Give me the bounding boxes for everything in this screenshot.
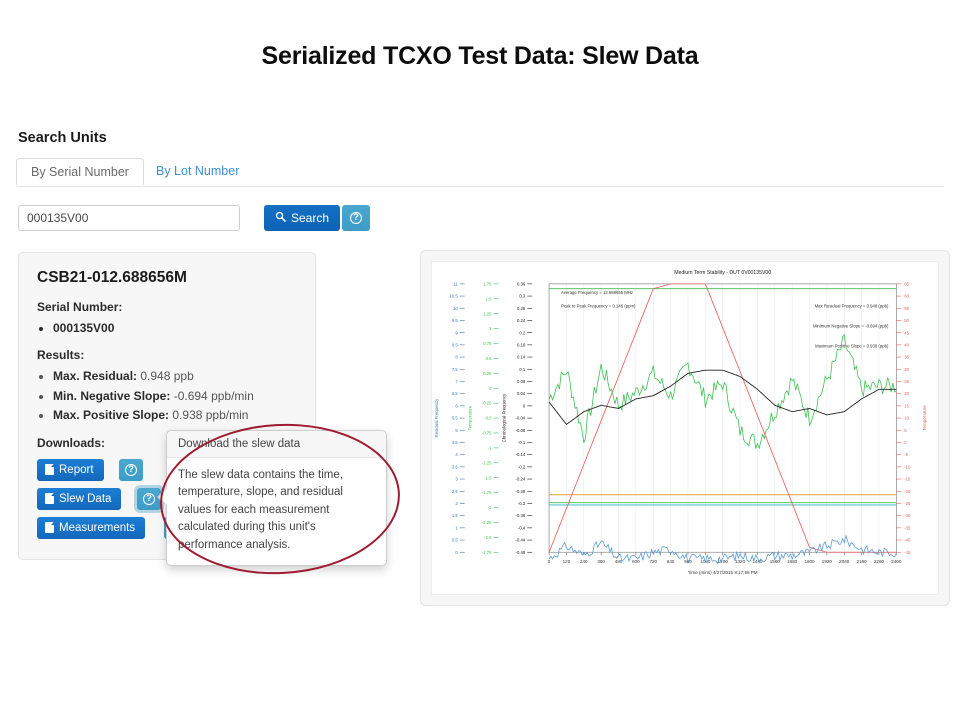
download-slew-data-label: Slew Data [59,493,111,505]
axis-tick-label: 0.28 [517,306,526,311]
axis-tick-label: -2.75 [482,550,492,555]
axis-tick-label: 8 [455,355,458,360]
axis-tick-label: 0.24 [517,318,526,323]
max-positive-slope-value: 0.938 ppb/min [172,408,248,422]
x-tick-label: 240 [580,559,588,564]
download-measurements-button[interactable]: Measurements [37,517,145,539]
result-card-title: CSB21-012.688656M [37,269,297,287]
axis-tick-label: 1 [489,326,492,331]
x-tick-label: 840 [667,559,675,564]
medium-term-stability-chart: Medium Term Stability - DUT 0V00135V0001… [432,262,938,594]
axis-tick-label: 0.3 [519,294,526,299]
chart-title: Medium Term Stability - DUT 0V00135V00 [674,270,771,276]
axis-tick-label: -0.25 [482,401,492,406]
axis-tick-label: -5 [904,452,908,457]
axis-tick-label: -25 [904,501,911,506]
axis-tick-label: 15 [904,403,909,408]
max-residual-label: Max. Residual: [53,369,137,383]
axis-tick-label: -0.2 [518,464,526,469]
axis-tick-label: 9.5 [452,318,459,323]
axis-tick-label: 5 [904,428,907,433]
download-report-label: Report [59,464,94,476]
axis-tick-label: -1.75 [482,490,492,495]
axis-tick-label: 30 [904,367,909,372]
axis-tick-label: -20 [904,489,911,494]
axis-tick-label: 1.25 [483,311,492,316]
axis-tick-label: 0.14 [517,355,526,360]
axis-tick-label: -45 [904,550,911,555]
x-tick-label: 360 [597,559,605,564]
axis-tick-label: 0.08 [517,379,526,384]
x-tick-label: 1200 [718,559,729,564]
max-residual-value: 0.948 ppb [140,369,193,383]
axis-tick-label: -0.44 [516,538,526,543]
axis-tick-label: -0.24 [516,477,526,482]
axis-tick-label: -1 [488,445,492,450]
chart-annotation: Minimum Negative Slope = -0.694 (ppb) [813,324,889,329]
axis-tick-label: -2.5 [484,535,492,540]
file-icon [45,464,54,475]
max-positive-slope-label: Max. Positive Slope: [53,408,169,422]
axis-title: Temperature [468,405,473,430]
chart-panel: Medium Term Stability - DUT 0V00135V0001… [420,250,950,606]
axis-tick-label: 35 [904,355,909,360]
file-icon [45,522,54,533]
axis-tick-label: 65 [904,281,909,286]
axis-tick-label: 0.36 [517,281,526,286]
popover-arrow [159,489,167,505]
x-axis-label: Time (mins) 4/27/2015 8:17:56 PM [688,570,758,575]
axis-tick-label: -2.25 [482,520,492,525]
tab-by-serial-number[interactable]: By Serial Number [16,158,144,185]
axis-tick-label: 1.5 [452,513,459,518]
list-item: Max. Positive Slope: 0.938 ppb/min [53,407,297,424]
axis-tick-label: -30 [904,513,911,518]
x-tick-label: 2400 [891,559,902,564]
results-list: Max. Residual: 0.948 ppb Min. Negative S… [53,368,297,424]
axis-tick-label: -0.1 [518,440,526,445]
axis-tick-label: 0.04 [517,391,526,396]
axis-tick-label: 7 [455,379,458,384]
question-circle-icon: ? [143,493,155,505]
axis-tick-label: 50 [904,318,909,323]
min-negative-slope-label: Min. Negative Slope: [53,389,170,403]
search-units-heading: Search Units [18,130,944,146]
axis-tick-label: -0.75 [482,431,492,436]
x-tick-label: 0 [548,559,551,564]
page-title: Serialized TCXO Test Data: Slew Data [0,42,960,71]
axis-tick-label: -0.4 [518,525,526,530]
chart-annotation: Max Residual Frequency = 0.948 (ppb) [815,304,889,309]
axis-tick-label: 5 [455,428,458,433]
download-slew-data-button[interactable]: Slew Data [37,488,121,510]
axis-tick-label: 0 [455,550,458,555]
popover-body: The slew data contains the time, tempera… [167,458,386,565]
search-units-section: Search Units By Serial Number By Lot Num… [16,130,944,231]
axis-tick-label: -2 [488,505,492,510]
x-tick-label: 1920 [822,559,833,564]
chart-annotation: Peak to Peak Frequency = 0.146 (ppm) [561,304,636,309]
axis-tick-label: 1.75 [483,281,492,286]
section-divider [16,186,944,187]
popover-title: Download the slew data [167,431,386,458]
axis-tick-label: 55 [904,306,909,311]
axis-tick-label: 0.25 [483,371,492,376]
list-item: Max. Residual: 0.948 ppb [53,368,297,385]
chart-annotation: Maximum Positive Slope = 0.938 (ppb) [815,343,889,348]
axis-tick-label: 9 [455,330,458,335]
search-help-button[interactable]: ? [342,205,370,231]
axis-tick-label: 60 [904,294,909,299]
x-tick-label: 2280 [874,559,885,564]
axis-tick-label: -0.04 [516,416,526,421]
list-item: Min. Negative Slope: -0.694 ppb/min [53,388,297,405]
axis-tick-label: 10 [453,306,458,311]
axis-tick-label: 0.5 [486,356,493,361]
axis-tick-label: 6 [455,403,458,408]
axis-tick-label: -0.36 [516,513,526,518]
axis-tick-label: 45 [904,330,909,335]
download-slew-data-help-button[interactable]: ? [137,488,161,510]
axis-title: Temperature [922,405,927,431]
x-tick-label: 1680 [787,559,798,564]
chart-container: Medium Term Stability - DUT 0V00135V0001… [431,261,939,595]
axis-tick-label: 6.5 [452,391,459,396]
serial-number-label: Serial Number: [37,300,297,314]
axis-tick-label: -0.28 [516,489,526,494]
slew-data-popover: Download the slew data The slew data con… [166,430,387,566]
search-row: Search ? [16,205,944,231]
results-label: Results: [37,348,297,362]
axis-tick-label: -1.25 [482,460,492,465]
axis-tick-label: 1 [455,525,458,530]
axis-tick-label: 0.18 [517,342,526,347]
axis-tick-label: 4.5 [452,440,459,445]
x-tick-label: 720 [649,559,657,564]
serial-number-list: 000135V00 [53,320,297,337]
chart-annotation: Average Frequency = 12.688655 MHz [561,290,633,295]
axis-tick-label: -40 [904,538,911,543]
axis-tick-label: 5.5 [452,416,459,421]
axis-tick-label: 7.5 [452,367,459,372]
axis-tick-label: 0.5 [452,538,459,543]
axis-tick-label: 25 [904,379,909,384]
download-report-help-button[interactable]: ? [119,459,143,481]
axis-tick-label: 0 [523,403,526,408]
download-report-button[interactable]: Report [37,459,104,481]
magnifier-icon [275,211,286,225]
x-tick-label: 1320 [735,559,746,564]
x-tick-label: 1800 [804,559,815,564]
axis-tick-label: 0 [904,440,907,445]
axis-tick-label: -0.14 [516,452,526,457]
axis-tick-label: 1.5 [486,296,493,301]
search-tabs: By Serial Number By Lot Number [16,158,944,187]
axis-title: Residual Frequency [434,398,439,438]
search-button[interactable]: Search [264,205,340,231]
list-item: 000135V00 [53,320,297,337]
axis-title: Chronological Frequency [501,393,506,442]
axis-tick-label: 8.5 [452,342,459,347]
x-tick-label: 600 [632,559,640,564]
axis-tick-label: -0.5 [484,416,492,421]
min-negative-slope-value: -0.694 ppb/min [174,389,254,403]
axis-tick-label: -35 [904,525,911,530]
axis-tick-label: -0.48 [516,550,526,555]
axis-tick-label: -15 [904,477,911,482]
axis-tick-label: 2 [455,501,458,506]
axis-tick-label: 3 [455,477,458,482]
question-circle-icon: ? [125,464,137,476]
x-tick-label: 120 [563,559,571,564]
axis-tick-label: 0.1 [519,367,526,372]
download-measurements-label: Measurements [59,522,135,534]
axis-tick-label: -0.3 [518,501,526,506]
axis-tick-label: -0.08 [516,428,526,433]
axis-tick-label: 40 [904,342,909,347]
x-tick-label: 2160 [857,559,868,564]
slide: Serialized TCXO Test Data: Slew Data Sea… [0,0,960,720]
search-input[interactable] [18,205,240,231]
axis-tick-label: 11 [453,281,458,286]
axis-tick-label: 10 [904,416,909,421]
axis-tick-label: 20 [904,391,909,396]
file-icon [45,493,54,504]
axis-tick-label: 2.5 [452,489,459,494]
axis-tick-label: 10.5 [449,294,458,299]
x-tick-label: 1560 [770,559,781,564]
axis-tick-label: -10 [904,464,911,469]
question-circle-icon: ? [350,212,362,224]
axis-tick-label: 3.5 [452,464,459,469]
tab-by-lot-number[interactable]: By Lot Number [142,158,253,185]
axis-tick-label: 0.75 [483,341,492,346]
search-button-label: Search [291,211,329,225]
x-tick-label: 2040 [839,559,850,564]
axis-tick-label: -1.5 [484,475,492,480]
axis-tick-label: 0 [489,386,492,391]
axis-tick-label: 4 [455,452,458,457]
axis-tick-label: 0.2 [519,330,526,335]
